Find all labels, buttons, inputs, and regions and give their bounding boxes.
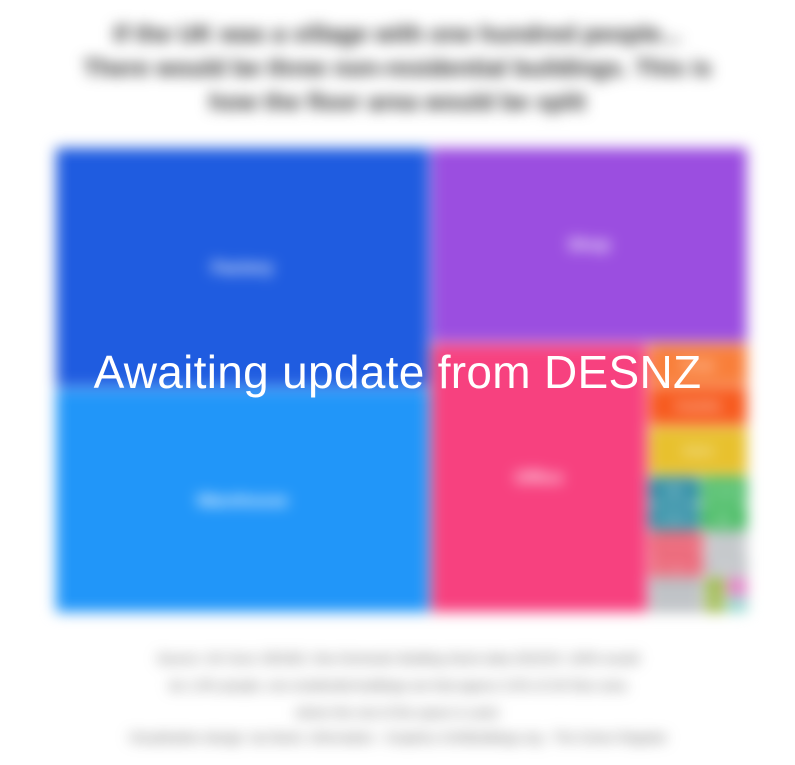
treemap-tile-label: Hospitality xyxy=(649,401,747,411)
source-line-1: Source: UK Govt, DESNZ, Non-Domestic Bui… xyxy=(18,645,778,672)
credit-note: Visualisation design: Ian Bush, Informat… xyxy=(18,728,778,748)
treemap-tile[interactable]: Office xyxy=(430,343,648,613)
source-line-2: be 1.9% people, non-residential building… xyxy=(18,672,778,699)
treemap-tile[interactable]: Misc xyxy=(726,597,748,613)
treemap-tile[interactable]: Religion xyxy=(726,577,748,597)
treemap-tile-label: Storage xyxy=(649,360,747,370)
treemap-tile[interactable]: Hospitality xyxy=(648,386,748,426)
treemap-tile[interactable]: Leisure xyxy=(648,504,700,531)
treemap-tile[interactable]: Shop xyxy=(430,147,748,343)
treemap-tile-label: University xyxy=(705,538,747,548)
source-line-3: where the rest of the space is used. xyxy=(18,699,778,726)
treemap-tile-label: Culture xyxy=(705,561,747,571)
treemap-tile-label: Leisure xyxy=(649,513,699,523)
treemap-tile[interactable]: Community xyxy=(648,531,704,555)
title-line-3: how the floor area would be split xyxy=(20,86,775,120)
title-line-2: There would be three non-residential bui… xyxy=(20,52,775,86)
treemap-tile[interactable]: Hotel xyxy=(648,476,700,504)
treemap-tile[interactable]: Hospital xyxy=(700,476,748,504)
treemap-tile-label: Hotel xyxy=(649,485,699,495)
treemap-tile[interactable]: Other xyxy=(648,577,704,597)
treemap-tile-label: Emergency xyxy=(649,561,703,571)
treemap-tile-label: Office xyxy=(431,468,647,488)
treemap-tile-label: Shop xyxy=(431,235,747,255)
treemap-tile[interactable]: University xyxy=(704,531,748,555)
treemap-tile[interactable]: Factory xyxy=(55,147,430,388)
treemap-tile-label: Community xyxy=(649,538,703,548)
treemap-tile[interactable]: Emergency xyxy=(648,555,704,577)
treemap-tile-label: School xyxy=(649,446,747,456)
treemap-chart[interactable]: FactoryWarehouseShopOfficeStorageHospita… xyxy=(55,147,748,613)
treemap-tile[interactable]: Prison xyxy=(648,597,704,613)
treemap-tile[interactable]: Sport xyxy=(700,504,748,531)
chart-source-note: Source: UK Govt, DESNZ, Non-Domestic Bui… xyxy=(18,645,778,726)
treemap-tile-label: Warehouse xyxy=(56,491,429,511)
treemap-tile[interactable]: Care xyxy=(704,577,726,597)
treemap-tile[interactable]: Warehouse xyxy=(55,388,430,613)
page-title: If the UK was a village with one hundred… xyxy=(20,18,775,120)
treemap-tile-label: Sport xyxy=(701,513,747,523)
treemap-tile[interactable]: School xyxy=(648,426,748,476)
blurred-content-layer: If the UK was a village with one hundred… xyxy=(0,0,795,765)
treemap-tile[interactable]: Storage xyxy=(648,343,748,386)
treemap-tile[interactable]: Culture xyxy=(704,555,748,577)
treemap-tile-label: Factory xyxy=(56,258,429,278)
title-line-1: If the UK was a village with one hundred… xyxy=(20,18,775,52)
treemap-tile-label: Hospital xyxy=(701,485,747,495)
treemap-tile[interactable]: Transport xyxy=(704,597,726,613)
